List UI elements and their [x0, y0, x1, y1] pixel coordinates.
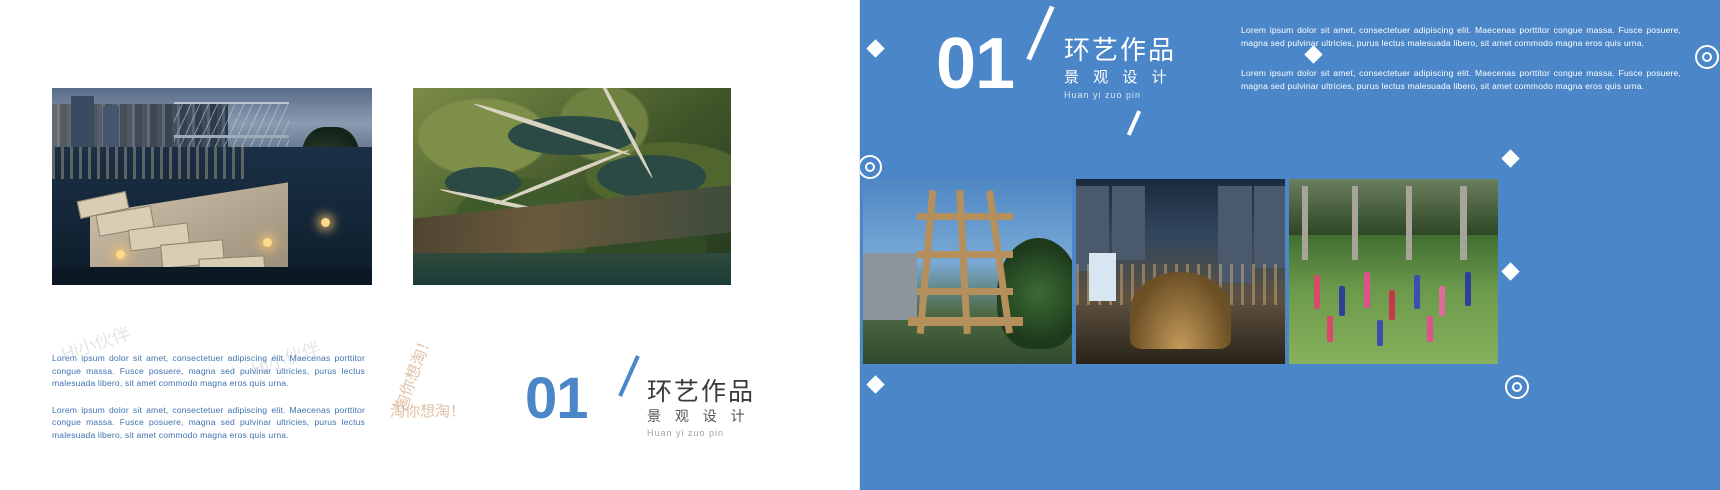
slash-small-decoration-icon: [1127, 110, 1141, 135]
riverside-infinity-pool-night-photo: [52, 88, 372, 285]
landscape-white-slide: Lorem ipsum dolor sit amet, consectetuer…: [0, 0, 860, 490]
diamond-decoration-icon: [866, 375, 884, 393]
left-section-number: 01: [525, 370, 588, 428]
target-ring-decoration-icon: [860, 155, 882, 179]
wooden-observation-tower-photo: [863, 179, 1072, 364]
slash-decoration-icon: [618, 355, 640, 397]
target-ring-decoration-icon: [1695, 45, 1719, 69]
left-subtitle-cn: 景 观 设 计: [647, 406, 750, 426]
right-subtitle-cn: 景 观 设 计: [1064, 66, 1172, 87]
right-paragraph-2: Lorem ipsum dolor sit amet, consectetuer…: [1241, 67, 1681, 92]
left-section-title: 01 环艺作品 景 观 设 计 Huan yi zuo pin: [525, 370, 785, 440]
diamond-decoration-icon: [1501, 262, 1519, 280]
aerial-wetland-park-photo: [413, 88, 731, 285]
slide-pair: Lorem ipsum dolor sit amet, consectetuer…: [0, 0, 1720, 490]
landscape-blue-slide: 01 环艺作品 景 观 设 计 Huan yi zuo pin Lorem ip…: [860, 0, 1720, 490]
night-plaza-fountain-photo: [1076, 179, 1285, 364]
target-ring-decoration-icon: [1505, 375, 1529, 399]
watermark-3: 淘你想淘！: [387, 330, 437, 413]
diamond-decoration-icon: [1501, 149, 1519, 167]
left-title-cn: 环艺作品: [647, 372, 755, 408]
diamond-decoration-icon: [866, 39, 884, 57]
right-paragraph-1: Lorem ipsum dolor sit amet, consectetuer…: [1241, 24, 1681, 49]
left-paragraph-1: Lorem ipsum dolor sit amet, consectetuer…: [52, 352, 365, 390]
left-body-copy: Lorem ipsum dolor sit amet, consectetuer…: [52, 352, 365, 456]
right-title-cn: 环艺作品: [1064, 30, 1176, 67]
right-pinyin: Huan yi zuo pin: [1064, 90, 1141, 100]
left-pinyin: Huan yi zuo pin: [647, 428, 724, 438]
right-body-copy: Lorem ipsum dolor sit amet, consectetuer…: [1241, 24, 1681, 110]
slash-decoration-icon: [1026, 5, 1054, 60]
watermark-4: 淘你想淘！: [390, 400, 465, 421]
outdoor-yoga-lawn-photo: [1289, 179, 1498, 364]
left-paragraph-2: Lorem ipsum dolor sit amet, consectetuer…: [52, 404, 365, 442]
right-section-number: 01: [936, 28, 1014, 100]
